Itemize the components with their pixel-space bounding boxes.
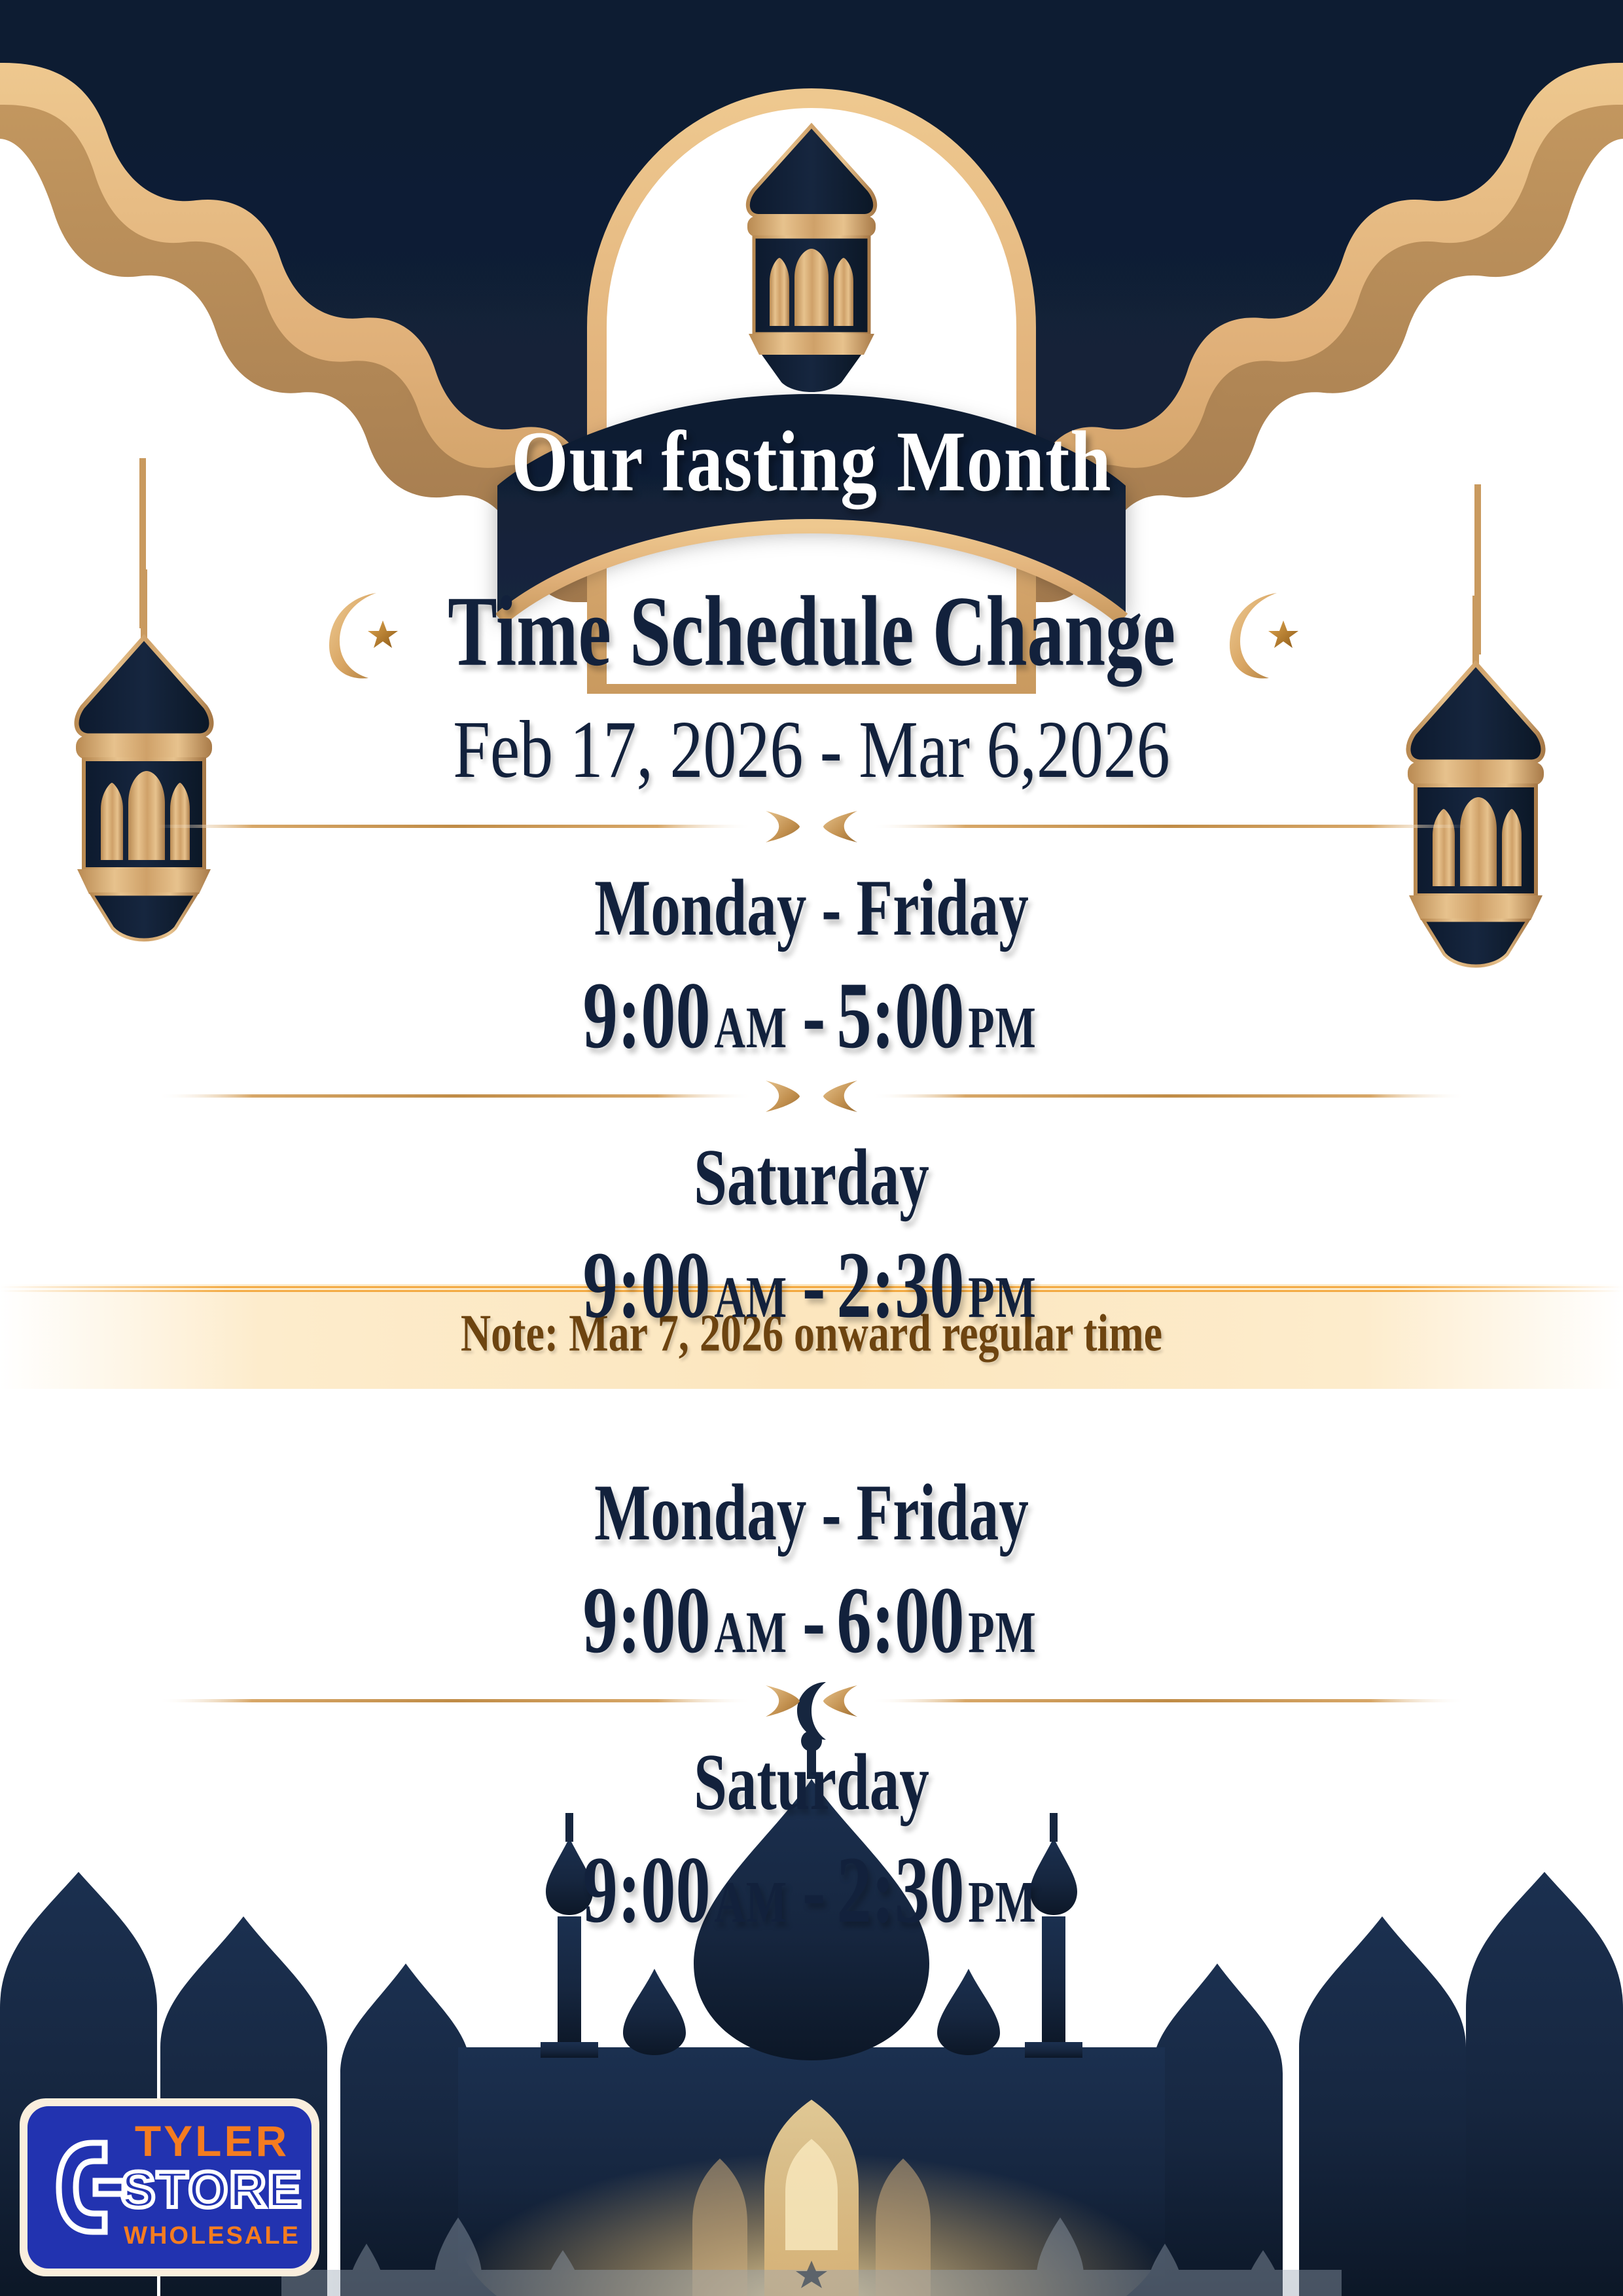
page-title: Time Schedule Change	[448, 574, 1175, 690]
divider-ornament-1	[0, 803, 1623, 849]
close-time-2: 2:30	[836, 1232, 964, 1338]
main-title-row: Time Schedule Change	[0, 576, 1623, 687]
close-meridiem-2: PM	[965, 1265, 1041, 1331]
schedule-time-2: 9:00AM-2:30PM	[41, 1231, 1582, 1341]
logo-line-store: STORE	[121, 2161, 302, 2218]
close-time-3: 6:00	[836, 1568, 964, 1673]
logo-tyler-c-store[interactable]: TYLER STORE WHOLESALE	[16, 2092, 323, 2282]
lantern-icon-top	[713, 118, 910, 399]
schedule-content: Time Schedule Change Feb 17, 2026 - Mar …	[0, 576, 1623, 1933]
crescent-star-icon-right	[1213, 583, 1311, 681]
banner-title: Our fasting Month	[0, 412, 1623, 512]
close-meridiem-1: PM	[965, 996, 1041, 1061]
time-separator-4: -	[791, 1837, 837, 1943]
open-meridiem-1: AM	[711, 996, 791, 1061]
schedule-time-3: 9:00AM-6:00PM	[41, 1566, 1582, 1676]
open-time-2: 9:00	[583, 1232, 711, 1338]
date-range: Feb 17, 2026 - Mar 6,2026	[16, 703, 1607, 797]
close-time-1: 5:00	[836, 963, 964, 1068]
time-separator-1: -	[791, 963, 837, 1068]
time-separator-3: -	[791, 1568, 837, 1673]
divider-ornament-2	[0, 1073, 1623, 1119]
close-meridiem-3: PM	[965, 1600, 1041, 1666]
schedule-time-4: 9:00AM-2:30PM	[41, 1836, 1582, 1946]
divider-ornament-3	[0, 1677, 1623, 1723]
schedule-days-1: Monday - Friday	[41, 861, 1582, 954]
logo-line-wholesale: WHOLESALE	[124, 2222, 300, 2250]
open-time-1: 9:00	[583, 963, 711, 1068]
close-time-4: 2:30	[836, 1837, 964, 1943]
close-meridiem-4: PM	[965, 1870, 1041, 1935]
open-time-4: 9:00	[583, 1837, 711, 1943]
open-meridiem-2: AM	[711, 1265, 791, 1331]
schedule-days-3: Monday - Friday	[41, 1465, 1582, 1558]
schedule-time-1: 9:00AM-5:00PM	[41, 961, 1582, 1071]
schedule-days-2: Saturday	[41, 1130, 1582, 1223]
logo-line-tyler: TYLER	[135, 2117, 289, 2165]
crescent-star-icon-left	[312, 583, 410, 681]
time-separator-2: -	[791, 1232, 837, 1338]
open-time-3: 9:00	[583, 1568, 711, 1673]
open-meridiem-4: AM	[711, 1870, 791, 1935]
schedule-days-4: Saturday	[41, 1735, 1582, 1828]
open-meridiem-3: AM	[711, 1600, 791, 1666]
